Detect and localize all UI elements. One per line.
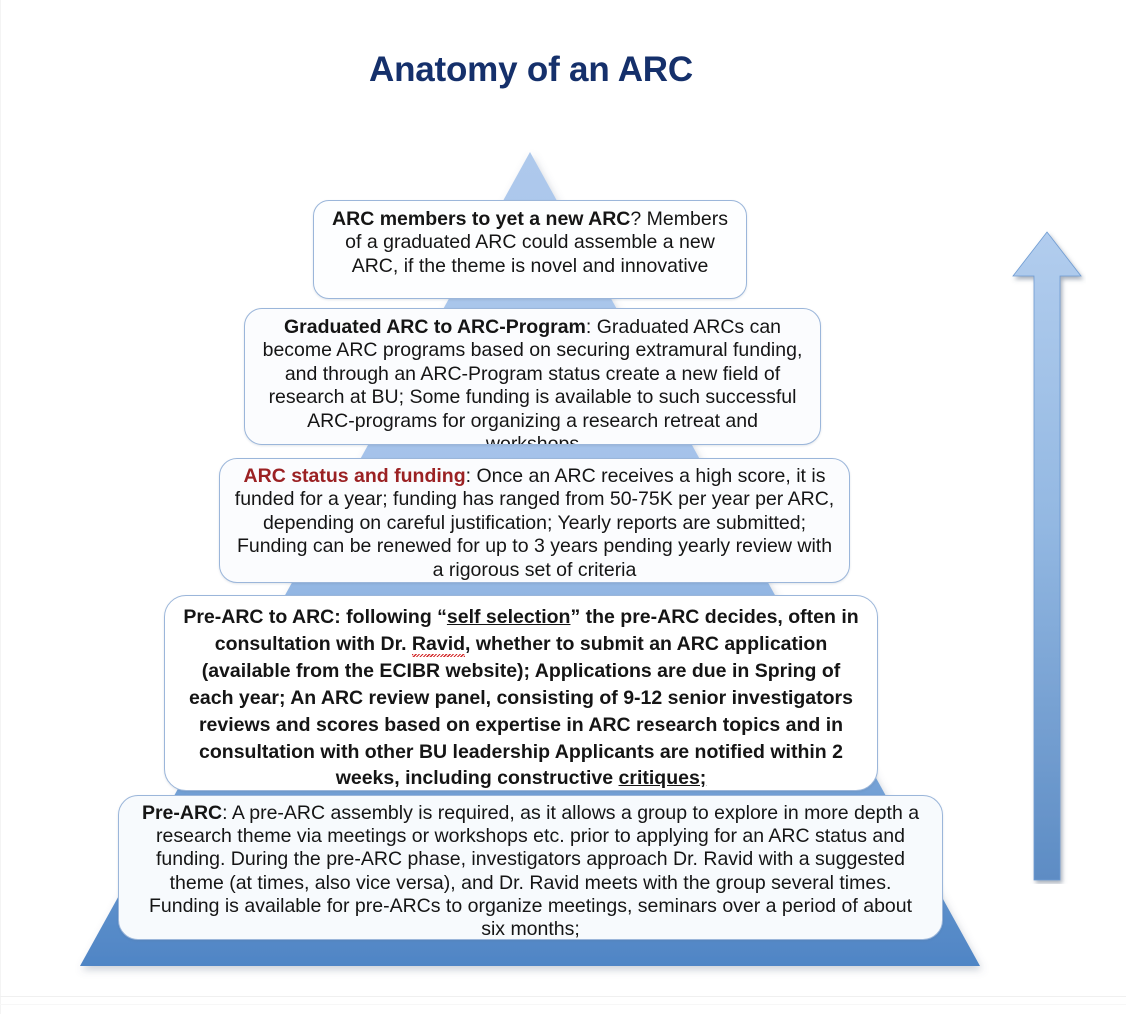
tier-4-link-critiques[interactable]: critiques; (619, 767, 707, 789)
tier-3-heading: ARC status and funding (244, 465, 466, 487)
arrow-up-shape (1013, 232, 1081, 880)
tier-box-pre-arc[interactable]: Pre-ARC: A pre-ARC assembly is required,… (118, 795, 943, 940)
tier-5-heading: Pre-ARC (142, 802, 222, 824)
page-title: Anatomy of an ARC (0, 50, 1062, 90)
page-edge-rule-left (0, 0, 1, 1014)
tier-3-text: ARC status and funding: Once an ARC rece… (234, 465, 835, 582)
tier-1-heading-suffix: ? (630, 208, 641, 230)
tier-2-text: Graduated ARC to ARC-Program: Graduated … (261, 316, 804, 445)
tier-1-text: ARC members to yet a new ARC? Members of… (328, 208, 732, 278)
upward-progress-arrow (1008, 228, 1086, 884)
tier-5-body: A pre-ARC assembly is required, as it al… (149, 802, 919, 940)
tier-5-text: Pre-ARC: A pre-ARC assembly is required,… (135, 802, 926, 940)
tier-box-arc-status-and-funding[interactable]: ARC status and funding: Once an ARC rece… (219, 458, 850, 583)
tier-4-misspelled-word: Ravid (412, 633, 465, 655)
tier-4-link-self-selection[interactable]: self selection (447, 606, 571, 628)
slide-canvas: Anatomy of an ARC (0, 0, 1126, 1014)
tier-4-part-3: , whether to submit an ARC application (… (189, 633, 853, 790)
tier-box-arc-members-new-arc[interactable]: ARC members to yet a new ARC? Members of… (313, 200, 747, 299)
tier-1-heading: ARC members to yet a new ARC (332, 208, 630, 230)
tier-2-heading: Graduated ARC to ARC-Program (284, 316, 586, 338)
tier-4-text: Pre-ARC to ARC: following “self selectio… (183, 604, 859, 791)
page-edge-rule-bottom-secondary (0, 1004, 1126, 1005)
tier-box-pre-arc-to-arc[interactable]: Pre-ARC to ARC: following “self selectio… (164, 595, 878, 791)
tier-4-part-1: Pre-ARC to ARC: following “ (183, 606, 447, 628)
page-edge-rule-bottom (0, 996, 1126, 997)
tier-box-graduated-arc-to-arc-program[interactable]: Graduated ARC to ARC-Program: Graduated … (244, 308, 821, 445)
